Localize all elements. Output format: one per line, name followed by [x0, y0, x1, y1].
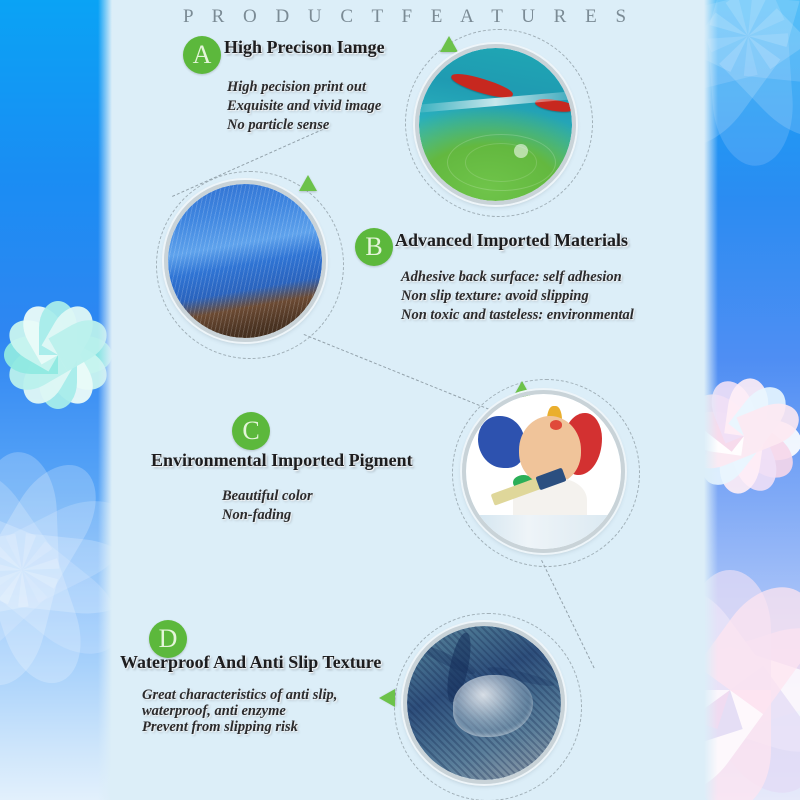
painted-floor — [466, 515, 621, 549]
badge-c: C — [232, 412, 270, 450]
content-panel: P R O D U C T F E A T U R E S A High Pre… — [112, 0, 704, 800]
waterproof-texture-image — [407, 626, 561, 780]
left-edge-fade — [98, 0, 112, 800]
paint-splat-blue — [478, 416, 525, 469]
right-edge-fade — [704, 0, 718, 800]
feature-line-c-1: Beautiful color — [222, 487, 313, 506]
left-decoration-strip — [0, 0, 112, 800]
feature-title-c: Environmental Imported Pigment — [151, 450, 413, 471]
paint-dot-forehead — [550, 420, 562, 429]
feature-title-d: Waterproof And Anti Slip Texture — [120, 652, 381, 673]
feature-line-d-3: Prevent from slipping risk — [142, 718, 298, 737]
badge-a: A — [183, 36, 221, 74]
feature-line-a-1: High pecision print out — [227, 78, 366, 97]
feature-title-b: Advanced Imported Materials — [395, 230, 628, 251]
arrow-marker-b — [299, 175, 317, 191]
feature-photo-d — [403, 622, 565, 784]
feature-line-c-2: Non-fading — [222, 506, 291, 525]
feature-photo-b — [164, 180, 326, 342]
feature-title-a: High Precison Iamge — [224, 37, 385, 58]
badge-b: B — [355, 228, 393, 266]
feature-photo-a — [415, 44, 576, 205]
arrow-marker-a — [440, 36, 458, 52]
baby-painting-image — [466, 394, 621, 549]
koi-lotus-image — [419, 48, 572, 201]
feature-line-b-3: Non toxic and tasteless: environmental — [401, 306, 634, 325]
blue-fabric-image — [168, 184, 322, 338]
water-bubble — [514, 144, 528, 158]
feature-line-a-3: No particle sense — [227, 116, 329, 135]
infographic-canvas: P R O D U C T F E A T U R E S A High Pre… — [0, 0, 800, 800]
arrow-marker-d — [379, 689, 395, 707]
right-decoration-strip — [704, 0, 800, 800]
feature-line-b-1: Adhesive back surface: self adhesion — [401, 268, 622, 287]
feature-photo-c — [462, 390, 625, 553]
feature-line-b-2: Non slip texture: avoid slipping — [401, 287, 589, 306]
page-title: P R O D U C T F E A T U R E S — [112, 6, 704, 28]
feature-line-a-2: Exquisite and vivid image — [227, 97, 381, 116]
water-droplet — [453, 675, 533, 737]
